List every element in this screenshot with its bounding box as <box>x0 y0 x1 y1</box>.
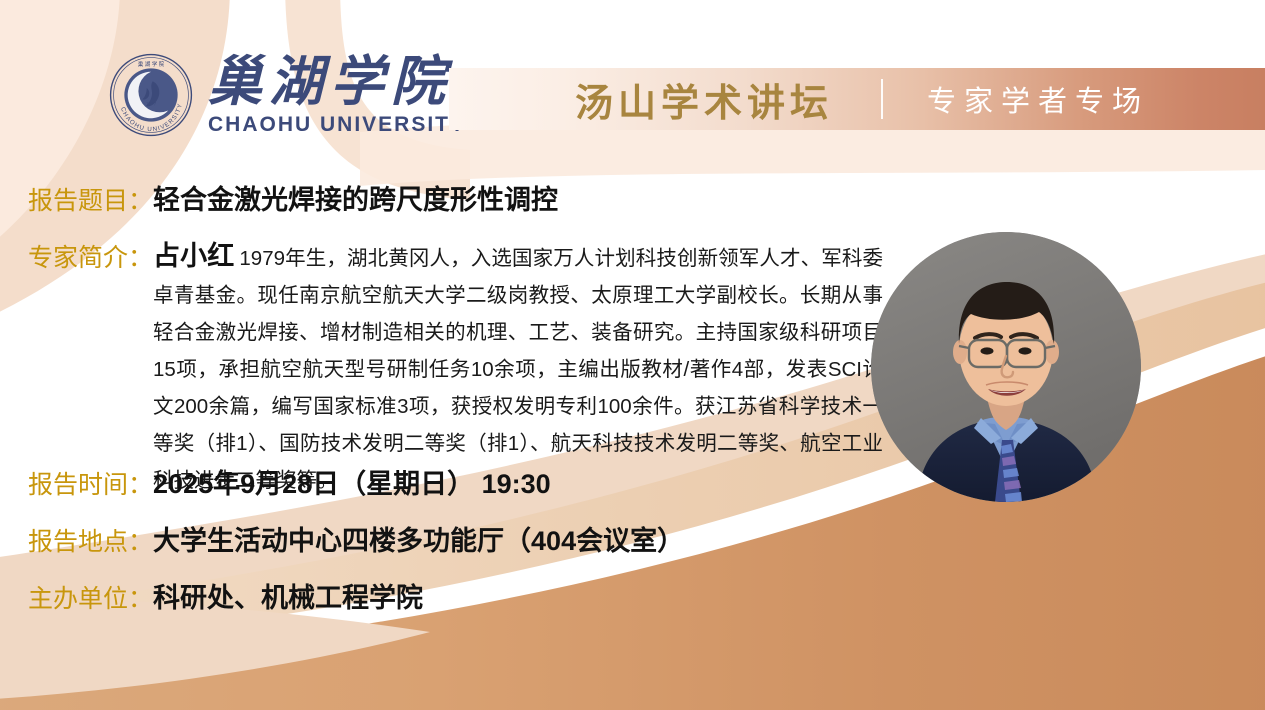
speaker-portrait-image <box>871 232 1141 502</box>
speaker-portrait <box>871 232 1141 502</box>
speaker-bio-row: 专家简介 ： 占小红1979年生，湖北黄冈人，入选国家万人计划科技创新领军人才、… <box>28 238 883 499</box>
report-title-row: 报告题目 ： 轻合金激光焊接的跨尺度形性调控 <box>28 178 558 217</box>
banner-divider <box>881 79 883 119</box>
svg-text:1977: 1977 <box>146 101 157 107</box>
report-place-value: 大学生活动中心四楼多功能厅（404会议室） <box>153 519 684 558</box>
speaker-bio-text: 1979年生，湖北黄冈人，入选国家万人计划科技创新领军人才、军科委卓青基金。现任… <box>153 247 883 492</box>
report-place-label: 报告地点 <box>28 522 128 558</box>
poster-root: 1977 巢 湖 学 院 CHAOHU UNIVERSITY 巢湖学院 CHAO… <box>0 0 1265 710</box>
report-title-value: 轻合金激光焊接的跨尺度形性调控 <box>153 178 558 217</box>
university-name-cn: 巢湖学院 <box>208 55 466 109</box>
university-name-block: 巢湖学院 CHAOHU UNIVERSITY <box>208 55 466 135</box>
poster-header: 1977 巢 湖 学 院 CHAOHU UNIVERSITY 巢湖学院 CHAO… <box>0 0 1265 160</box>
lecture-banner: 汤山学术讲坛 专家学者专场 <box>449 68 1265 130</box>
speaker-bio-label: 专家简介 <box>28 238 128 274</box>
speaker-bio-colon: ： <box>128 238 153 274</box>
organizer-colon: ： <box>128 579 153 615</box>
svg-text:巢 湖 学 院: 巢 湖 学 院 <box>138 60 165 68</box>
banner-title: 汤山学术讲坛 <box>575 72 833 127</box>
report-title-label: 报告题目 <box>28 181 128 217</box>
organizer-label: 主办单位 <box>28 579 128 615</box>
report-title-colon: ： <box>128 181 153 217</box>
university-name-en: CHAOHU UNIVERSITY <box>208 114 466 135</box>
report-time-label: 报告时间 <box>28 465 128 501</box>
report-time-row: 报告时间 ： 2025年9月28日（星期日） 19:30 <box>28 462 551 501</box>
report-place-row: 报告地点 ： 大学生活动中心四楼多功能厅（404会议室） <box>28 519 684 558</box>
report-place-colon: ： <box>128 522 153 558</box>
university-logo-block: 1977 巢 湖 学 院 CHAOHU UNIVERSITY 巢湖学院 CHAO… <box>108 52 466 138</box>
organizer-row: 主办单位 ： 科研处、机械工程学院 <box>28 576 423 615</box>
banner-subtitle: 专家学者专场 <box>927 78 1149 120</box>
organizer-value: 科研处、机械工程学院 <box>153 576 423 615</box>
report-time-value: 2025年9月28日（星期日） 19:30 <box>153 462 551 501</box>
report-time-colon: ： <box>128 465 153 501</box>
speaker-name: 占小红 <box>153 241 234 271</box>
chaohu-university-seal-icon: 1977 巢 湖 学 院 CHAOHU UNIVERSITY <box>108 52 194 138</box>
speaker-bio-text-block: 占小红1979年生，湖北黄冈人，入选国家万人计划科技创新领军人才、军科委卓青基金… <box>153 238 883 499</box>
